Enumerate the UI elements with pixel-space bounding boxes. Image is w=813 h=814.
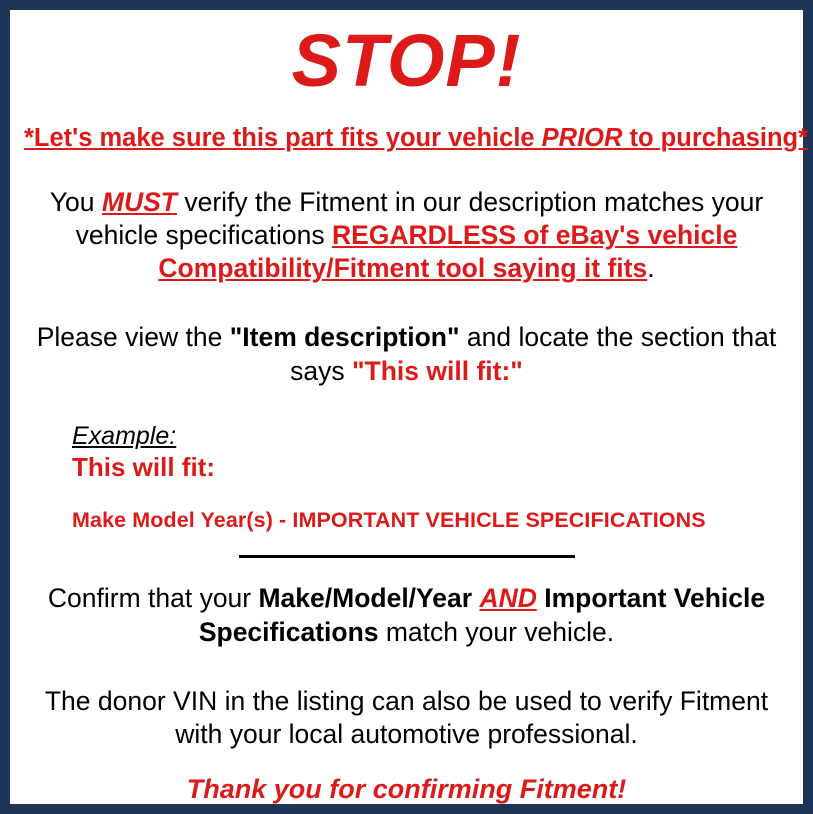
fitment-notice-body: STOP! *Let's make sure this part fits yo…	[10, 10, 803, 804]
horizontal-divider	[239, 555, 575, 558]
make-model-year-emphasis: Make/Model/Year	[258, 583, 472, 613]
confirm-part-4: match your vehicle.	[379, 617, 615, 647]
tagline-emphasis-prior: PRIOR	[542, 124, 623, 152]
closing-thank-you: Thank you for confirming Fitment!	[24, 751, 789, 805]
example-fit-heading: This will fit:	[72, 450, 789, 483]
confirm-paragraph: Confirm that your Make/Model/Year AND Im…	[24, 558, 789, 648]
page-title: STOP!	[24, 10, 789, 98]
must-verify-paragraph: You MUST verify the Fitment in our descr…	[24, 152, 789, 285]
example-label: Example:	[72, 422, 789, 451]
fitment-notice-frame: STOP! *Let's make sure this part fits yo…	[0, 0, 813, 814]
tagline-tail: to purchasing*	[622, 124, 808, 152]
example-block: Example: This will fit: Make Model Year(…	[24, 388, 789, 534]
desc-part-1: Please view the	[37, 322, 230, 352]
example-spec-line: Make Model Year(s) - IMPORTANT VEHICLE S…	[72, 484, 789, 534]
donor-vin-paragraph: The donor VIN in the listing can also be…	[24, 649, 789, 751]
confirm-part-1: Confirm that your	[48, 583, 259, 613]
must-part-3: .	[647, 253, 654, 283]
divider-wrap	[24, 533, 789, 558]
item-description-emphasis: "Item description"	[230, 322, 460, 352]
must-part-1: You	[50, 187, 102, 217]
must-emphasis: MUST	[102, 187, 177, 217]
tagline: *Let's make sure this part fits your veh…	[24, 98, 789, 152]
this-will-fit-emphasis: "This will fit:"	[352, 356, 523, 386]
and-emphasis: AND	[479, 583, 536, 613]
tagline-lead: *Let's make sure this part fits your veh…	[24, 124, 542, 152]
item-description-paragraph: Please view the "Item description" and l…	[24, 285, 789, 387]
